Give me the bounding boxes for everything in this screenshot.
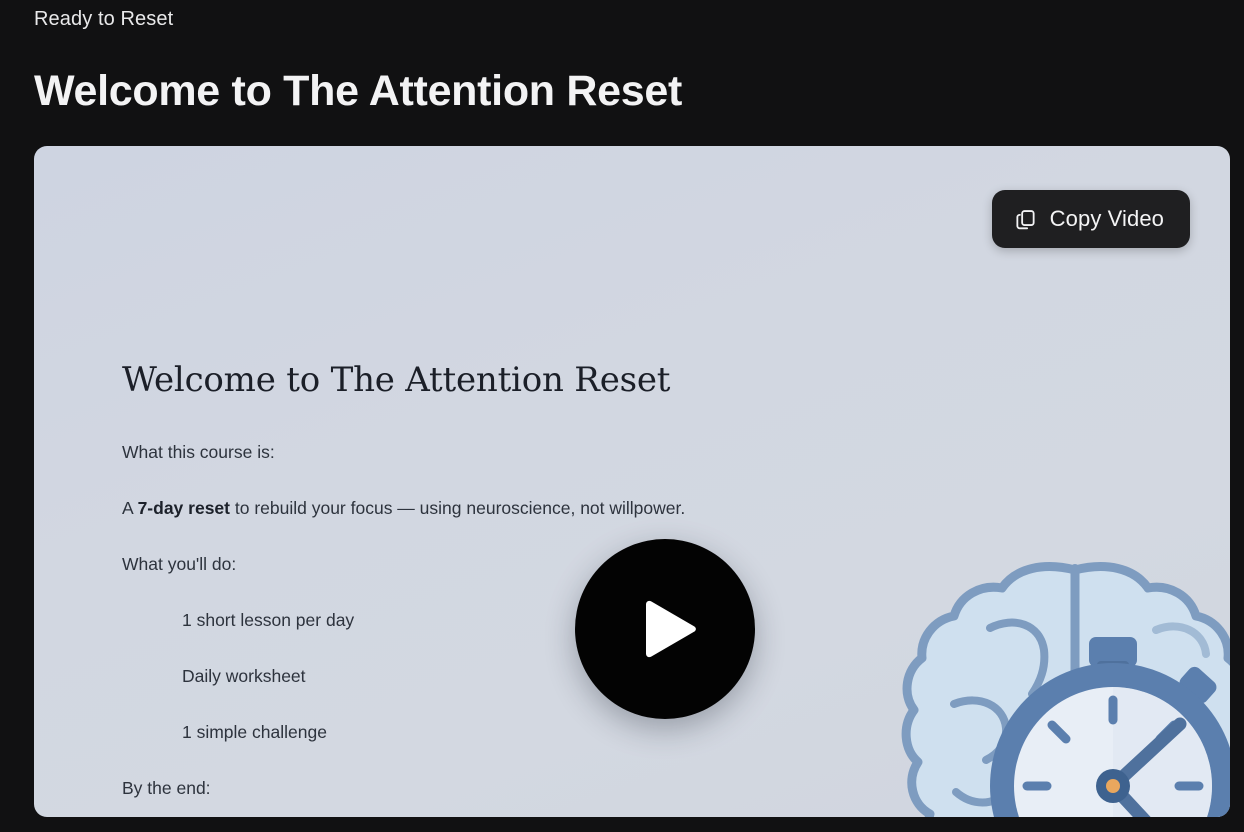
brain-with-stopwatch-illustration	[894, 554, 1230, 817]
status-eyebrow: Ready to Reset	[34, 5, 173, 33]
play-icon	[630, 598, 700, 660]
copy-icon	[1014, 208, 1037, 231]
video-slide-card: Copy Video Welcome to The Attention Rese…	[34, 146, 1230, 817]
slide-list-item-challenge: 1 simple challenge	[122, 720, 822, 744]
lesson-page: Ready to Reset Welcome to The Attention …	[0, 0, 1244, 832]
line-text-bold: 7-day reset	[138, 498, 230, 518]
slide-line-by-the-end: By the end:	[122, 776, 822, 800]
slide-line-what-course-is: What this course is:	[122, 440, 822, 464]
copy-video-button[interactable]: Copy Video	[992, 190, 1190, 248]
slide-title: Welcome to The Attention Reset	[122, 358, 670, 402]
line-text-prefix: A	[122, 498, 138, 518]
play-video-button[interactable]	[575, 539, 755, 719]
line-text-suffix: to rebuild your focus — using neuroscien…	[230, 498, 685, 518]
copy-video-label: Copy Video	[1050, 206, 1164, 232]
slide-line-seven-day-reset: A 7-day reset to rebuild your focus — us…	[122, 496, 822, 520]
page-title: Welcome to The Attention Reset	[34, 60, 682, 122]
